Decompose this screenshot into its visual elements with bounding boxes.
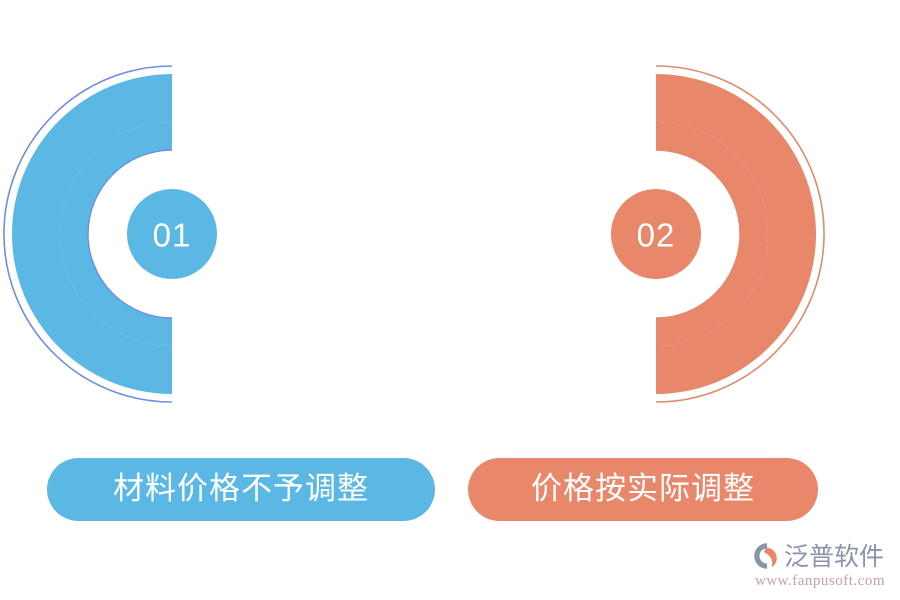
ring-svg-01: 01 [0, 52, 450, 422]
caption-pill-02[interactable]: 价格按实际调整 [468, 458, 818, 521]
center-number-02: 02 [637, 217, 676, 254]
watermark-url-text: www.fanpusoft.com [755, 573, 900, 590]
watermark-logo: 泛普软件 www.fanpusoft.com [752, 540, 900, 592]
diagram-canvas: 01 材料价格不予调整 02 价格按实际调整 [0, 0, 900, 600]
caption-pill-01[interactable]: 材料价格不予调整 [47, 458, 435, 521]
diagram-item-02: 02 价格按实际调整 [450, 0, 900, 600]
concentric-ring-graphic-01: 01 [0, 52, 450, 422]
concentric-ring-graphic-02: 02 [450, 52, 900, 422]
caption-pill-label-01: 材料价格不予调整 [113, 474, 369, 505]
diagram-item-01: 01 材料价格不予调整 [0, 0, 450, 600]
watermark-brand-row: 泛普软件 [752, 540, 900, 572]
fanpu-swoosh-logo-icon [752, 541, 782, 571]
caption-pill-label-02: 价格按实际调整 [531, 474, 755, 505]
center-number-01: 01 [153, 217, 192, 254]
watermark-brand-text: 泛普软件 [784, 544, 884, 569]
ring-svg-02: 02 [450, 52, 900, 422]
